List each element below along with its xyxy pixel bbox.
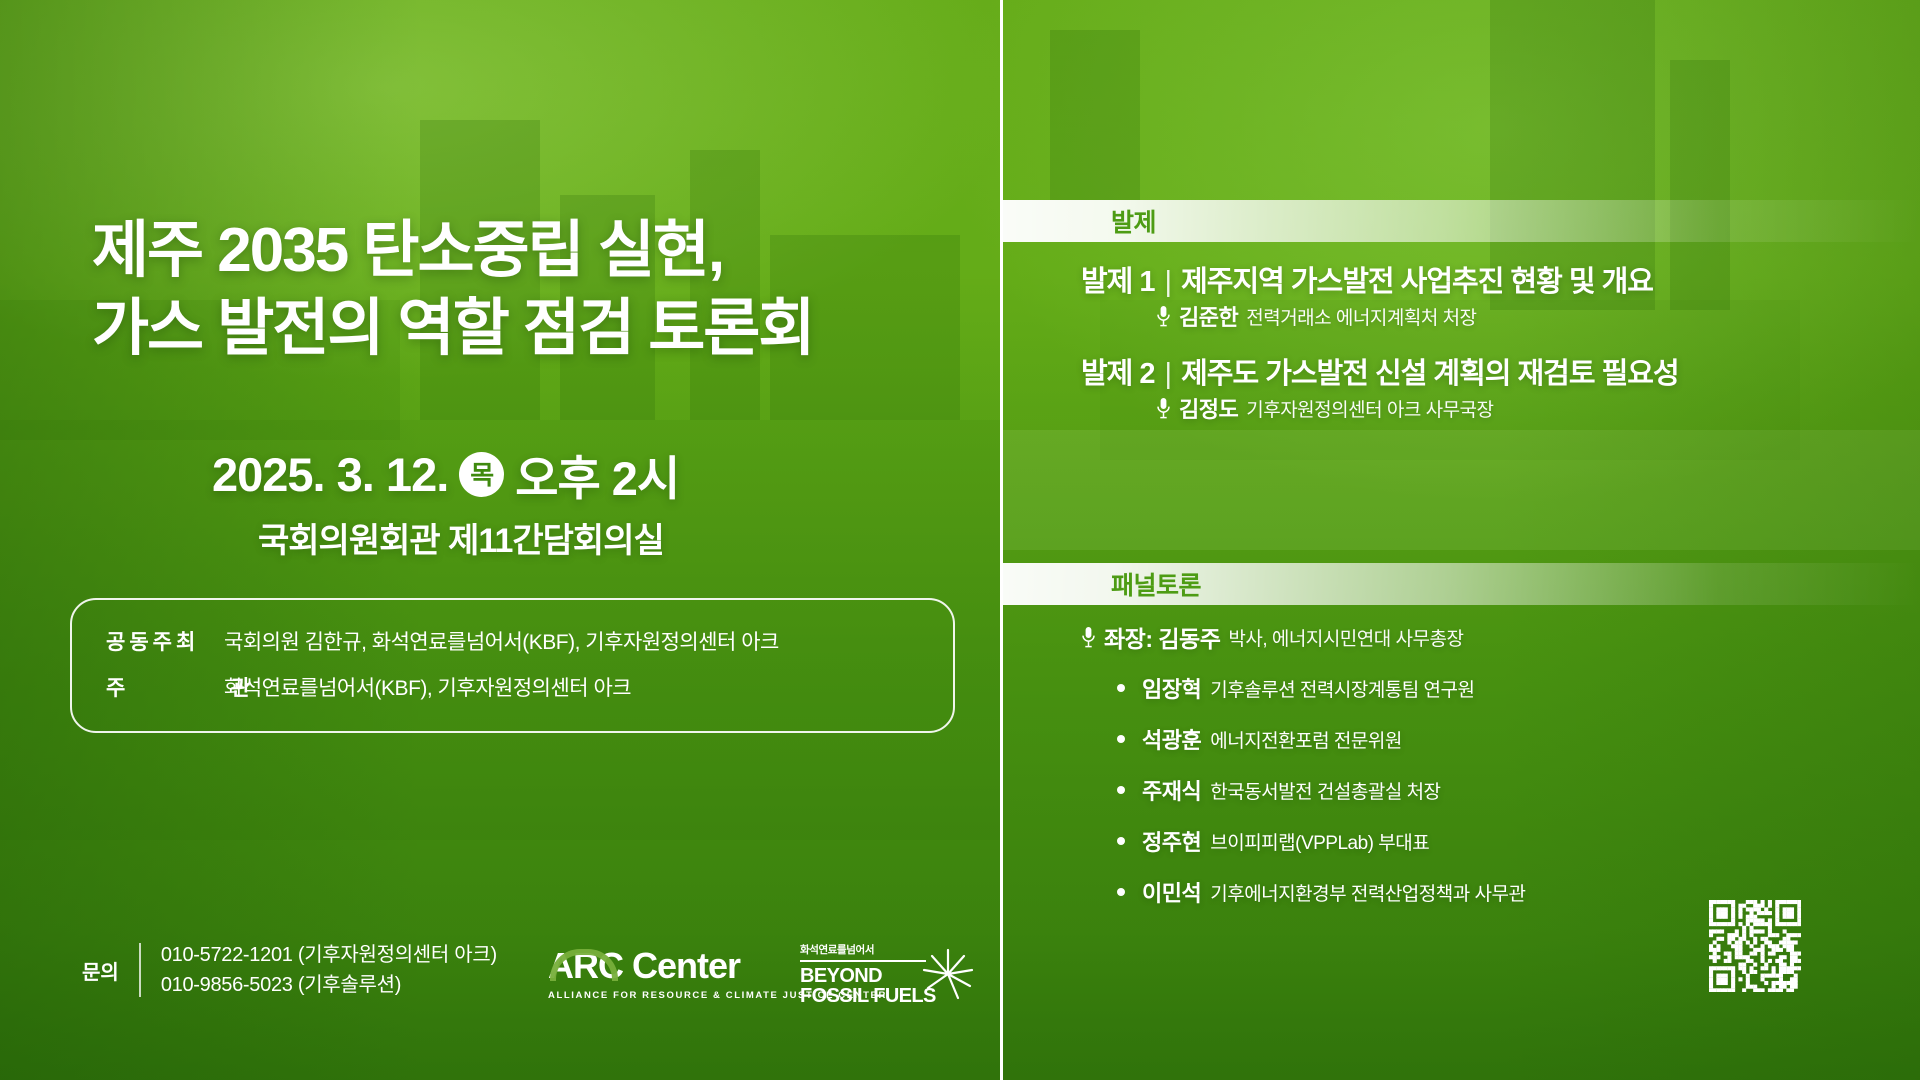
panelist-affiliation: 기후에너지환경부 전력산업정책과 사무관 (1210, 879, 1525, 906)
event-time: 오후 2시 (515, 440, 679, 509)
panel-moderator: 좌장: 김동주 박사, 에너지시민연대 사무총장 (1081, 620, 1463, 654)
bullet-icon (1117, 888, 1125, 896)
organizer-label: 공동주최 (106, 626, 224, 656)
left-column: 제주 2035 탄소중립 실현, 가스 발전의 역할 점검 토론회 2025. … (0, 0, 1000, 1080)
list-item: 정주현브이피피랩(VPPLab) 부대표 (1117, 825, 1525, 857)
speaker-1: 김준한 전력거래소 에너지계획처 처장 (1156, 300, 1477, 332)
talk-title-1: 발제 1|제주지역 가스발전 사업추진 현황 및 개요 (1081, 258, 1653, 300)
title-line-2: 가스 발전의 역할 점검 토론회 (92, 290, 972, 368)
speaker-name-1: 김준한 (1179, 300, 1238, 332)
talk-title-2: 발제 2|제주도 가스발전 신설 계획의 재검토 필요성 (1081, 350, 1679, 392)
speaker-name-2: 김정도 (1179, 392, 1238, 424)
sunburst-icon (920, 946, 976, 1002)
bullet-icon (1117, 786, 1125, 794)
contact-phone-2: 010-9856-5023 (기후솔루션) (161, 970, 497, 1000)
list-item: 임장혁기후솔루션 전력시장계통팀 연구원 (1117, 672, 1525, 704)
panelist-affiliation: 에너지전환포럼 전문위원 (1210, 726, 1402, 753)
panelist-affiliation: 한국동서발전 건설총괄실 처장 (1210, 777, 1440, 804)
panelist-name: 석광훈 (1142, 723, 1201, 755)
event-datetime: 2025. 3. 12. 목 오후 2시 (212, 440, 679, 509)
bff-rule (800, 960, 926, 962)
panelist-name: 정주현 (1142, 825, 1201, 857)
panelist-affiliation: 기후솔루션 전력시장계통팀 연구원 (1210, 675, 1474, 702)
speaker-affiliation-1: 전력거래소 에너지계획처 처장 (1246, 303, 1476, 330)
organizer-box: 공동주최 국회의원 김한규, 화석연료를넘어서(KBF), 기후자원정의센터 아… (70, 598, 955, 733)
talk-number-1: 발제 1 (1081, 266, 1155, 298)
day-of-week-badge: 목 (459, 452, 504, 497)
contact-divider (139, 943, 141, 997)
microphone-icon (1156, 305, 1171, 327)
talk-number-2: 발제 2 (1081, 358, 1155, 390)
right-column: 발제 발제 1|제주지역 가스발전 사업추진 현황 및 개요 김준한 전력거래소… (1003, 0, 1920, 1080)
arc-logo-arc-glyph: ARC (548, 945, 623, 986)
page-title: 제주 2035 탄소중립 실현, 가스 발전의 역할 점검 토론회 (92, 212, 972, 368)
qr-code[interactable] (1709, 900, 1801, 992)
contact-label: 문의 (82, 956, 119, 985)
panelist-name: 이민석 (1142, 876, 1201, 908)
beyond-fossil-fuels-logo: 화석연료를넘어서 BEYOND FOSSIL FUELS (800, 942, 970, 1007)
contact-phone-1: 010-5722-1201 (기후자원정의센터 아크) (161, 940, 497, 970)
list-item: 석광훈에너지전환포럼 전문위원 (1117, 723, 1525, 755)
microphone-icon (1081, 626, 1096, 648)
title-line-1: 제주 2035 탄소중립 실현, (92, 216, 723, 285)
moderator-name: 좌장: 김동주 (1104, 620, 1220, 654)
talk-heading-2: 제주도 가스발전 신설 계획의 재검토 필요성 (1181, 358, 1679, 390)
organizer-row: 주 관 화석연료를넘어서(KBF), 기후자원정의센터 아크 (106, 672, 953, 702)
talk-divider: | (1165, 358, 1172, 391)
microphone-icon (1156, 397, 1171, 419)
moderator-affiliation: 박사, 에너지시민연대 사무총장 (1228, 624, 1463, 651)
panelist-name: 주재식 (1142, 774, 1201, 806)
panelist-name: 임장혁 (1142, 672, 1201, 704)
panel-members-list: 임장혁기후솔루션 전력시장계통팀 연구원 석광훈에너지전환포럼 전문위원 주재식… (1117, 672, 1525, 927)
organizer-value: 화석연료를넘어서(KBF), 기후자원정의센터 아크 (224, 672, 631, 702)
talk-heading-1: 제주지역 가스발전 사업추진 현황 및 개요 (1181, 266, 1653, 298)
speaker-2: 김정도 기후자원정의센터 아크 사무국장 (1156, 392, 1494, 424)
event-venue: 국회의원회관 제11간담회의실 (258, 513, 664, 562)
section-header-panel: 패널토론 (1003, 563, 1920, 605)
bullet-icon (1117, 684, 1125, 692)
list-item: 주재식한국동서발전 건설총괄실 처장 (1117, 774, 1525, 806)
contact-block: 문의 010-5722-1201 (기후자원정의센터 아크) 010-9856-… (82, 940, 497, 1000)
organizer-row: 공동주최 국회의원 김한규, 화석연료를넘어서(KBF), 기후자원정의센터 아… (106, 626, 953, 656)
bullet-icon (1117, 735, 1125, 743)
section-title-presentation: 발제 (1111, 203, 1156, 239)
talk-divider: | (1165, 266, 1172, 299)
bullet-icon (1117, 837, 1125, 845)
organizer-label: 주 관 (106, 672, 224, 702)
section-header-presentation: 발제 (1003, 200, 1920, 242)
event-date: 2025. 3. 12. (212, 447, 448, 502)
contact-numbers: 010-5722-1201 (기후자원정의센터 아크) 010-9856-502… (161, 940, 497, 1000)
poster-canvas: 제주 2035 탄소중립 실현, 가스 발전의 역할 점검 토론회 2025. … (0, 0, 1920, 1080)
section-title-panel: 패널토론 (1111, 566, 1201, 602)
speaker-affiliation-2: 기후자원정의센터 아크 사무국장 (1246, 395, 1493, 422)
list-item: 이민석기후에너지환경부 전력산업정책과 사무관 (1117, 876, 1525, 908)
organizer-value: 국회의원 김한규, 화석연료를넘어서(KBF), 기후자원정의센터 아크 (224, 626, 779, 656)
panelist-affiliation: 브이피피랩(VPPLab) 부대표 (1210, 828, 1429, 855)
